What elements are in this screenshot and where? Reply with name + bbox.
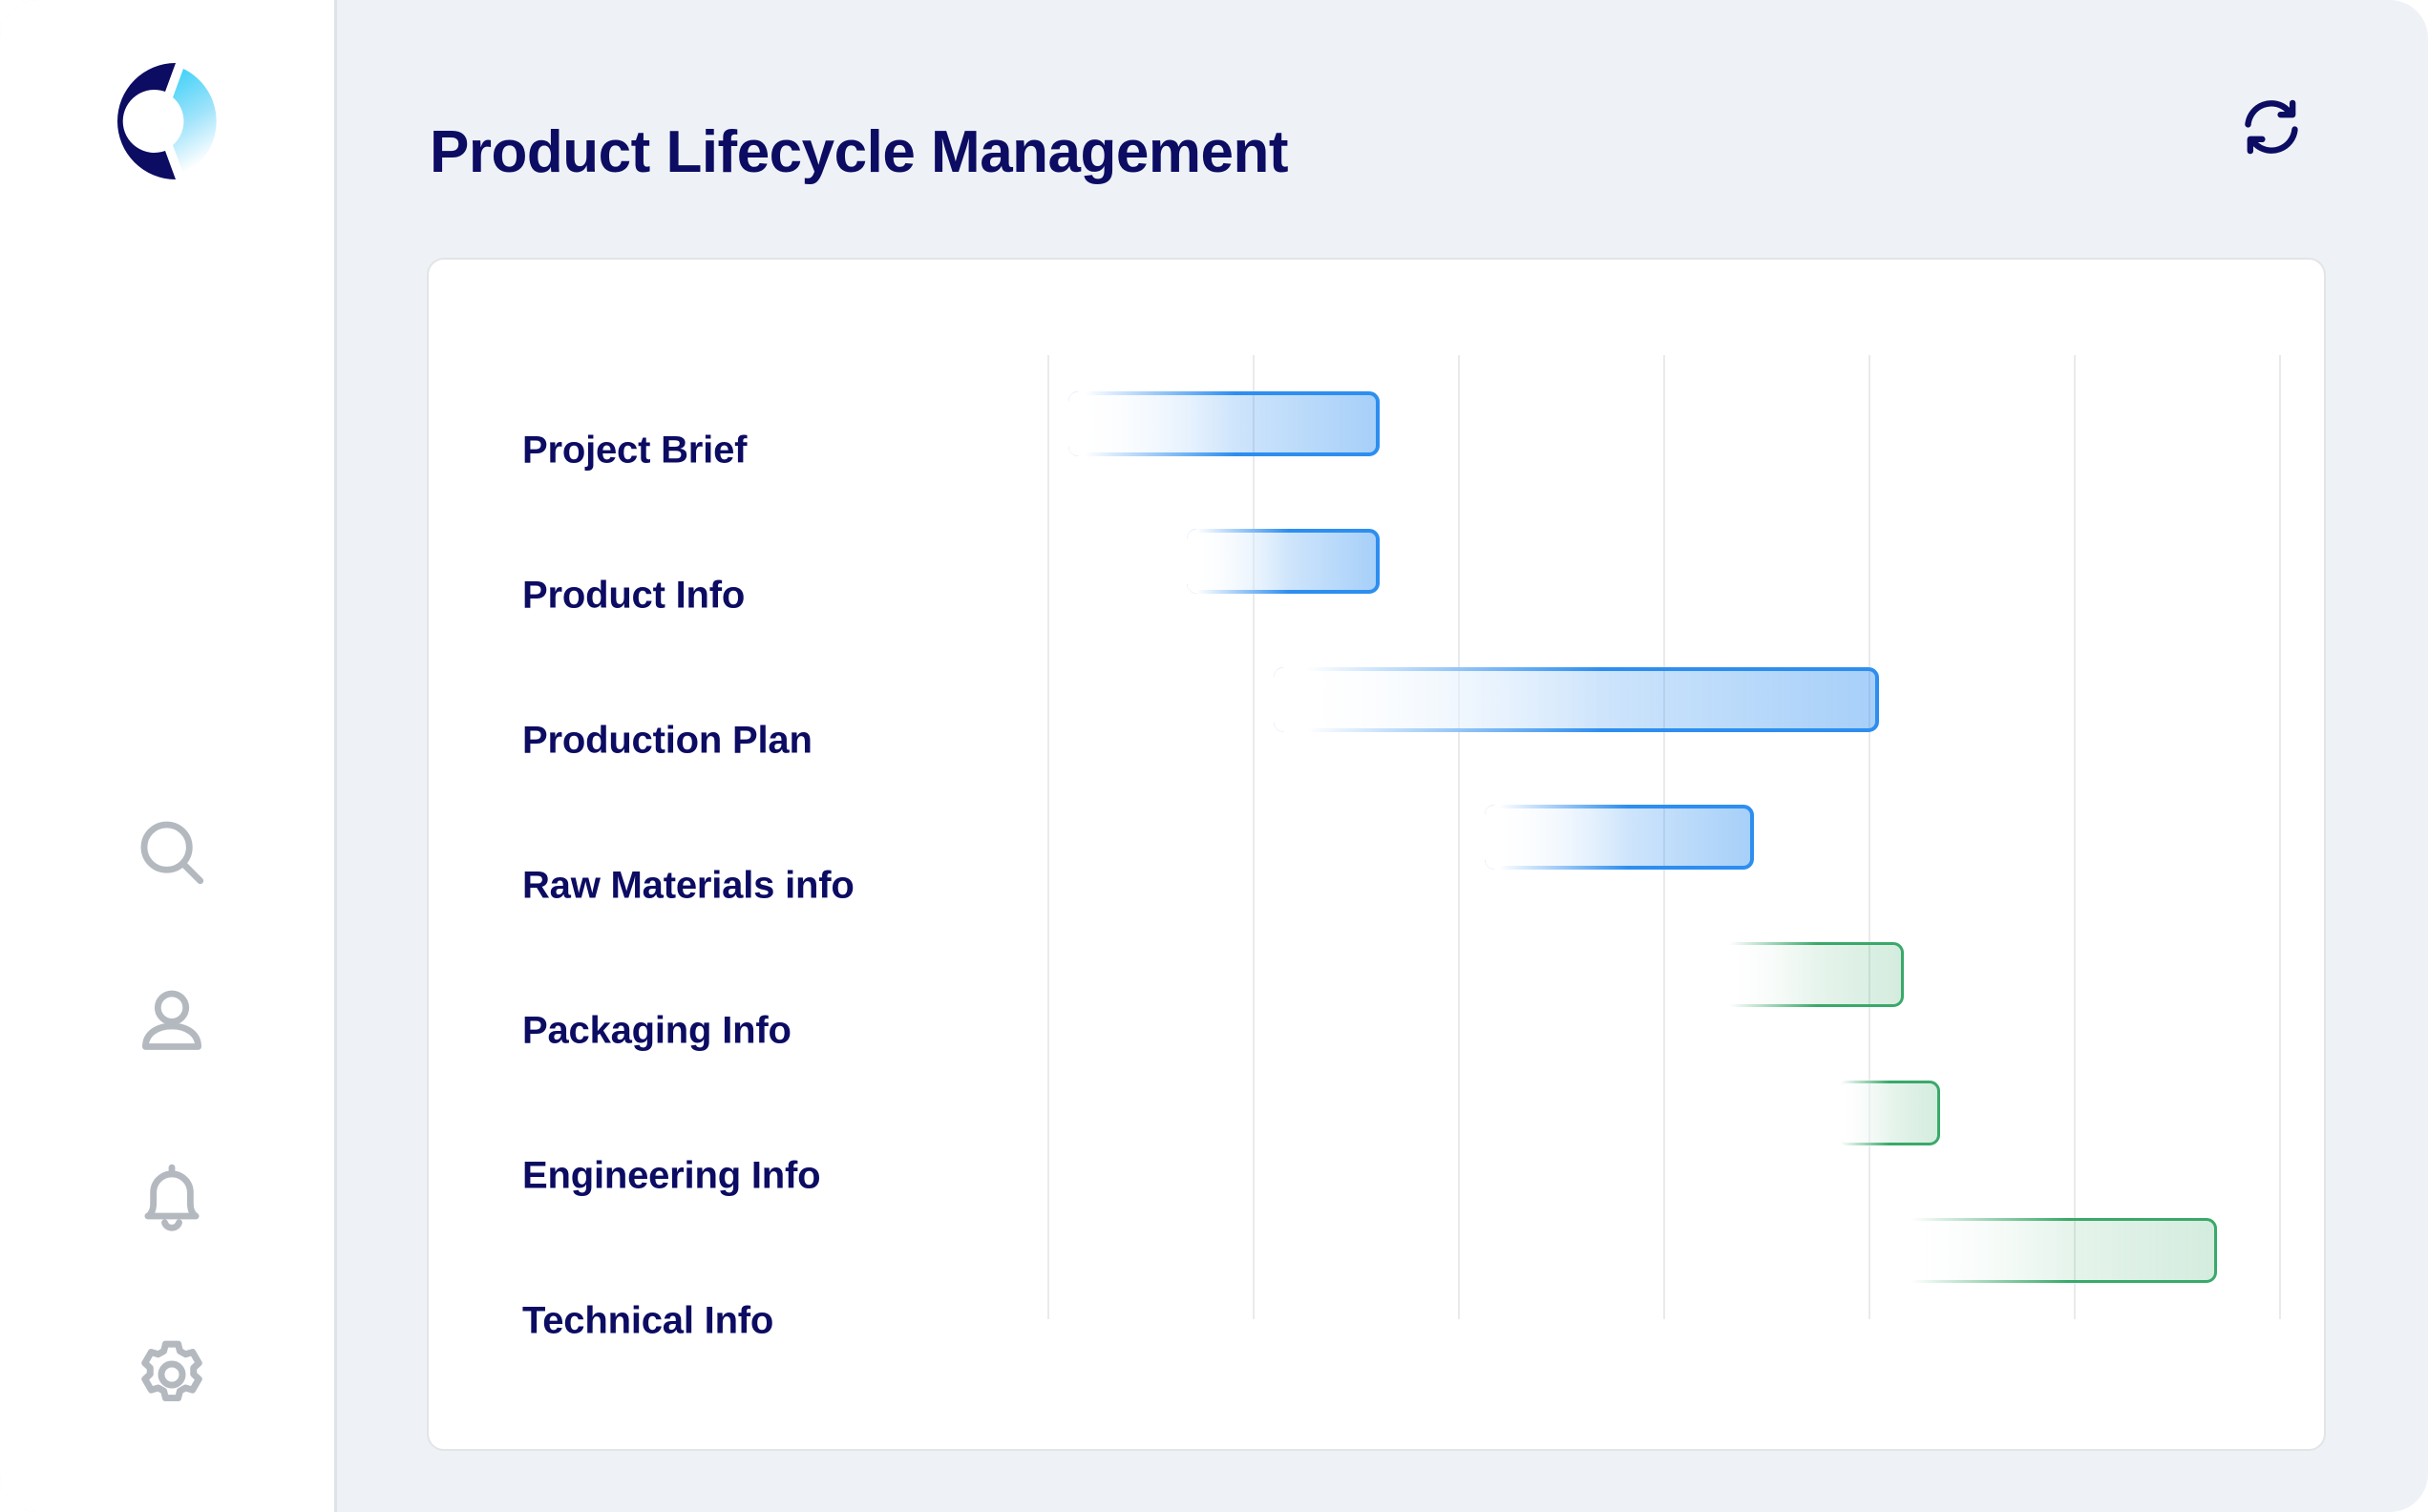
chart-category-label: Production Plan xyxy=(522,720,813,763)
chart-gridline xyxy=(2074,355,2076,1319)
chart-gridline xyxy=(2279,355,2281,1319)
chart-category-label: Engineering Info xyxy=(522,1155,820,1198)
sidebar-item-notifications[interactable] xyxy=(124,1150,220,1246)
chart-gridline xyxy=(1047,355,1049,1319)
chart-bar[interactable] xyxy=(1068,391,1381,456)
sidebar-item-profile[interactable] xyxy=(124,974,220,1069)
chart-gridline xyxy=(1869,355,1870,1319)
chart-gridline xyxy=(1458,355,1460,1319)
chart-bar[interactable] xyxy=(1274,667,1879,732)
sidebar xyxy=(0,0,337,1512)
chart-bar[interactable] xyxy=(1485,805,1754,870)
brand-logo-icon[interactable] xyxy=(107,59,231,183)
gantt-chart: Project Brief Product Info Production Pl… xyxy=(429,260,2324,1449)
bell-icon xyxy=(131,1157,213,1239)
app-window: Product Lifecycle Management Project Bri… xyxy=(0,0,2428,1512)
chart-gridline xyxy=(1253,355,1255,1319)
chart-category-label: Raw Materials info xyxy=(522,865,855,908)
page-title: Product Lifecycle Management xyxy=(430,118,1288,186)
chart-category-label: Packaging Info xyxy=(522,1010,792,1053)
chart-category-label: Project Brief xyxy=(522,430,747,472)
gear-icon xyxy=(130,1333,214,1417)
refresh-icon xyxy=(2238,94,2305,163)
chart-category-label: Product Info xyxy=(522,575,745,618)
chart-bar[interactable] xyxy=(1836,1081,1941,1145)
sidebar-item-settings[interactable] xyxy=(124,1327,220,1422)
refresh-button[interactable] xyxy=(2234,91,2309,165)
chart-bar[interactable] xyxy=(1895,1218,2218,1283)
user-icon xyxy=(131,980,213,1062)
chart-bar[interactable] xyxy=(1187,529,1380,594)
chart-plot-area xyxy=(1047,355,2279,1319)
sidebar-item-search[interactable] xyxy=(124,805,220,900)
search-icon xyxy=(131,811,213,893)
chart-category-label: Technical Info xyxy=(522,1300,773,1343)
chart-bar[interactable] xyxy=(1721,942,1903,1007)
chart-card: Project Brief Product Info Production Pl… xyxy=(427,258,2326,1451)
